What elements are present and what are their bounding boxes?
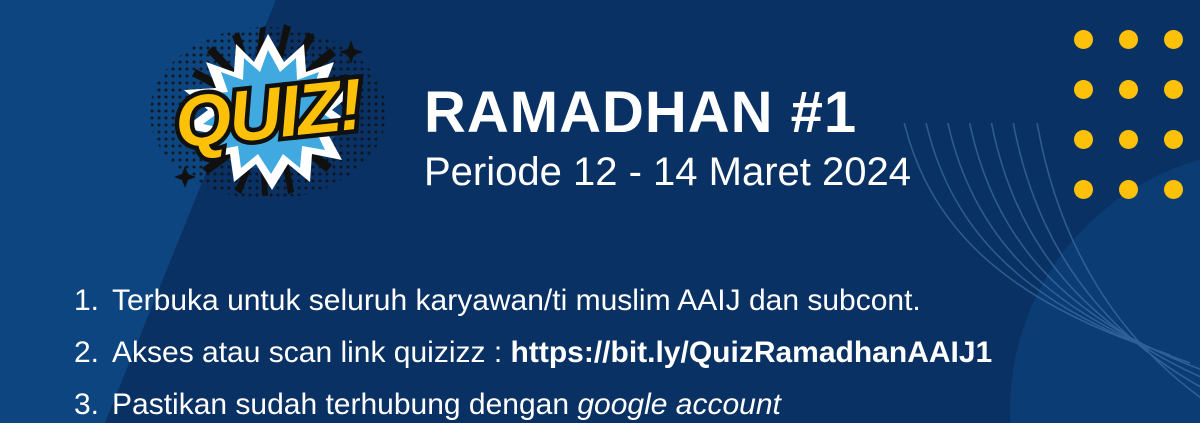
rule-segment: Akses atau scan link quizizz :	[112, 336, 511, 369]
list-item-number: 1.	[74, 286, 112, 316]
dot	[1074, 30, 1093, 49]
dot	[1119, 80, 1138, 99]
list-item-number: 3.	[74, 390, 112, 420]
list-item-text: Akses atau scan link quizizz : https://b…	[112, 338, 992, 368]
quiz-link[interactable]: https://bit.ly/QuizRamadhanAAIJ1	[511, 336, 993, 369]
list-item-text: Terbuka untuk seluruh karyawan/ti muslim…	[112, 286, 921, 316]
dot	[1164, 130, 1183, 149]
rule-segment-emphasis: google account	[577, 388, 781, 421]
list-item: 3. Pastikan sudah terhubung dengan googl…	[74, 390, 1134, 420]
dot	[1164, 180, 1183, 199]
header-text-block: RAMADHAN #1 Periode 12 - 14 Maret 2024	[424, 84, 911, 192]
rule-segment: Terbuka untuk seluruh karyawan/ti muslim…	[112, 284, 921, 317]
rules-list: 1. Terbuka untuk seluruh karyawan/ti mus…	[74, 286, 1134, 423]
dot	[1164, 30, 1183, 49]
list-item-number: 2.	[74, 338, 112, 368]
dot	[1119, 180, 1138, 199]
dot	[1074, 80, 1093, 99]
quiz-logo: QUIZ!	[108, 18, 428, 208]
rule-segment: Pastikan sudah terhubung dengan	[112, 388, 577, 421]
list-item-text: Pastikan sudah terhubung dengan google a…	[112, 390, 781, 420]
dot	[1074, 130, 1093, 149]
ramadhan-quiz-banner: QUIZ! RAMADHAN #1 Periode 12 - 14 Maret …	[0, 0, 1200, 423]
dot	[1119, 130, 1138, 149]
dot	[1074, 180, 1093, 199]
dot	[1119, 30, 1138, 49]
list-item: 2. Akses atau scan link quizizz : https:…	[74, 338, 1134, 368]
page-title: RAMADHAN #1	[424, 84, 911, 142]
yellow-dot-grid	[1074, 30, 1200, 230]
list-item: 1. Terbuka untuk seluruh karyawan/ti mus…	[74, 286, 1134, 316]
page-subtitle: Periode 12 - 14 Maret 2024	[424, 152, 911, 192]
dot	[1164, 80, 1183, 99]
